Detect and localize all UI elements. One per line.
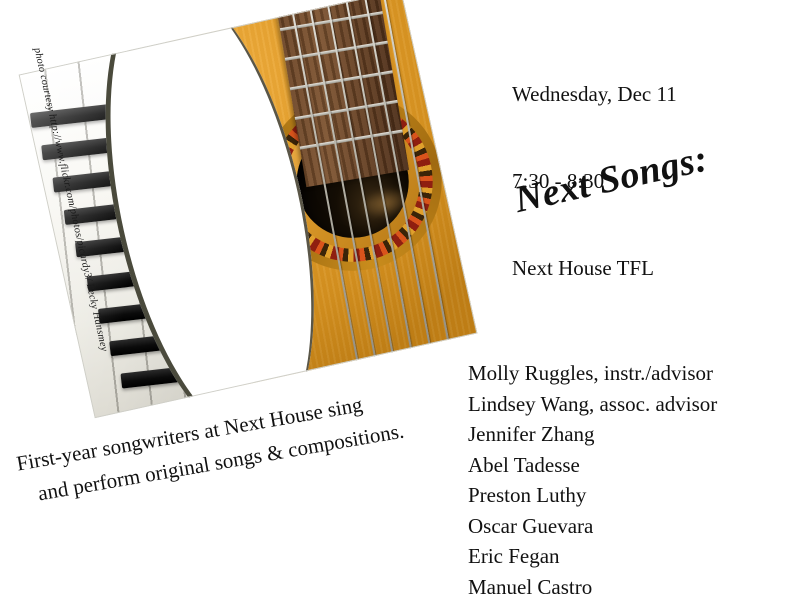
event-location: Next House TFL <box>512 254 677 283</box>
list-item: Oscar Guevara <box>468 511 717 542</box>
poster-canvas: photo courtesy http://www.flickr.com/pho… <box>0 0 792 612</box>
acoustic-guitar <box>165 0 477 386</box>
performer-list: Molly Ruggles, instr./advisor Lindsey Wa… <box>468 358 717 602</box>
list-item: Eric Fegan <box>468 541 717 572</box>
list-item: Lindsey Wang, assoc. advisor <box>468 389 717 420</box>
event-description: First-year songwriters at Next House sin… <box>14 382 407 513</box>
photo-content <box>19 0 478 418</box>
event-photo <box>19 0 478 418</box>
list-item: Manuel Castro <box>468 572 717 603</box>
event-date: Wednesday, Dec 11 <box>512 80 677 109</box>
list-item: Preston Luthy <box>468 480 717 511</box>
list-item: Molly Ruggles, instr./advisor <box>468 358 717 389</box>
list-item: Jennifer Zhang <box>468 419 717 450</box>
list-item: Abel Tadesse <box>468 450 717 481</box>
